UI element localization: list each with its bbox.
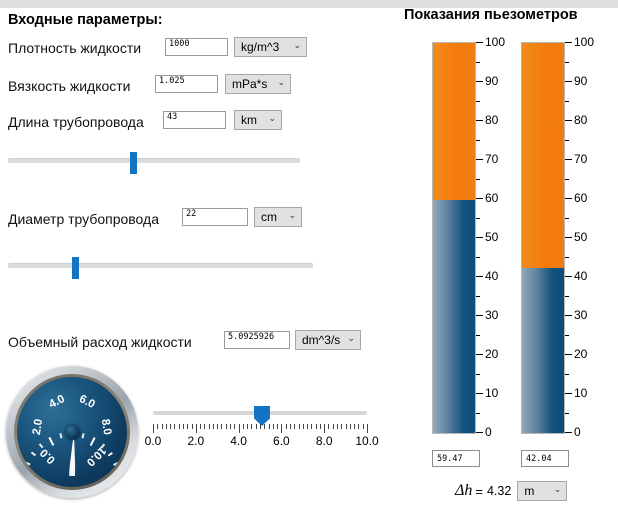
- ruler-tick: [294, 424, 295, 429]
- ruler-tick: [316, 424, 317, 429]
- input-viscosity[interactable]: 1.025: [155, 75, 218, 93]
- scale-tick: [476, 62, 480, 63]
- ruler-tick: [328, 424, 329, 429]
- delta-h-value: 4.32: [487, 484, 511, 498]
- ruler-tick: [200, 424, 201, 429]
- left-panel-title: Входные параметры:: [8, 12, 163, 28]
- ruler-tick: [281, 424, 282, 433]
- unit-select-diameter[interactable]: cm ⌄: [254, 207, 302, 227]
- chevron-down-icon: ⌄: [293, 41, 301, 50]
- delta-h-symbol: Δh: [455, 482, 472, 500]
- scale-tick: [476, 140, 480, 141]
- input-flow-rate-value: 5.0925926: [228, 333, 274, 342]
- scale-tick: [565, 237, 572, 238]
- ruler-tick: [367, 424, 368, 433]
- scale-tick: [476, 81, 483, 82]
- piezometer-2-bar: [521, 42, 565, 434]
- ruler-label: 4.0: [230, 434, 247, 448]
- ruler-tick: [303, 424, 304, 429]
- piezometer-1-readout: 59.47: [432, 450, 480, 467]
- ruler-tick: [264, 424, 265, 429]
- scale-tick: [476, 393, 483, 394]
- unit-select-delta-h[interactable]: m ⌄: [517, 481, 567, 501]
- ruler-tick: [226, 424, 227, 429]
- piezometer-1-empty: [433, 43, 475, 202]
- ruler-tick: [170, 424, 171, 429]
- right-panel-title: Показания пьезометров: [404, 7, 578, 23]
- scale-tick: [476, 276, 483, 277]
- scale-tick: [565, 120, 572, 121]
- scale-label: 20: [485, 347, 498, 361]
- ruler-label: 0.0: [145, 434, 162, 448]
- scale-label: 90: [485, 74, 498, 88]
- ruler-tick: [350, 424, 351, 429]
- chevron-down-icon: ⌄: [554, 485, 562, 494]
- ruler-tick: [196, 424, 197, 433]
- piezometer-2-readout-value: 42.04: [526, 454, 552, 464]
- ruler-tick: [187, 424, 188, 429]
- input-diameter-value: 22: [186, 210, 196, 219]
- unit-select-delta-h-value: m: [524, 484, 534, 498]
- ruler-tick: [260, 424, 261, 429]
- chevron-down-icon: ⌄: [277, 78, 285, 87]
- diameter-slider[interactable]: [8, 257, 313, 279]
- scale-tick: [476, 120, 483, 121]
- scale-tick: [565, 159, 572, 160]
- ruler-tick: [213, 424, 214, 429]
- ruler-label: 6.0: [273, 434, 290, 448]
- scale-tick: [476, 218, 480, 219]
- scale-tick: [565, 179, 569, 180]
- scale-tick: [476, 296, 480, 297]
- unit-select-viscosity[interactable]: mPa*s ⌄: [225, 74, 291, 94]
- scale-tick: [476, 179, 480, 180]
- chevron-down-icon: ⌄: [268, 114, 276, 123]
- ruler-tick: [243, 424, 244, 429]
- ruler-tick: [363, 424, 364, 429]
- ruler-tick: [239, 424, 240, 433]
- ruler-label: 2.0: [187, 434, 204, 448]
- flow-rate-ruler: [153, 424, 367, 434]
- input-density-value: 1000: [169, 40, 189, 49]
- scale-tick: [476, 413, 480, 414]
- piezometer-2-fill: [522, 268, 564, 433]
- ruler-tick: [358, 424, 359, 429]
- scale-tick: [476, 335, 480, 336]
- scale-tick: [565, 315, 572, 316]
- ruler-tick: [277, 424, 278, 429]
- length-slider[interactable]: [8, 152, 300, 174]
- scale-label: 20: [574, 347, 587, 361]
- label-length: Длина трубопровода: [8, 114, 144, 130]
- scale-tick: [565, 81, 572, 82]
- ruler-tick: [307, 424, 308, 429]
- label-viscosity: Вязкость жидкости: [8, 78, 131, 94]
- scale-label: 70: [574, 152, 587, 166]
- ruler-tick: [256, 424, 257, 429]
- gauge-hub: [65, 425, 80, 440]
- ruler-tick: [162, 424, 163, 429]
- scale-label: 10: [574, 386, 587, 400]
- scale-label: 60: [574, 191, 587, 205]
- scale-label: 90: [574, 74, 587, 88]
- input-density[interactable]: 1000: [165, 38, 228, 56]
- ruler-tick: [179, 424, 180, 429]
- label-diameter: Диаметр трубопровода: [8, 211, 159, 227]
- ruler-tick: [269, 424, 270, 429]
- piezometer-2-empty: [522, 43, 564, 270]
- input-length-value: 43: [167, 113, 177, 122]
- scale-tick: [565, 296, 569, 297]
- ruler-tick: [234, 424, 235, 429]
- scale-tick: [565, 140, 569, 141]
- scale-tick: [565, 218, 569, 219]
- unit-select-viscosity-value: mPa*s: [232, 77, 267, 91]
- scale-label: 30: [485, 308, 498, 322]
- input-length[interactable]: 43: [163, 111, 226, 129]
- label-flow-rate: Объемный расход жидкости: [8, 334, 192, 350]
- diameter-slider-thumb[interactable]: [72, 257, 79, 279]
- length-slider-track[interactable]: [8, 158, 300, 163]
- gauge-label: 8.0: [98, 418, 112, 436]
- ruler-tick: [209, 424, 210, 429]
- scale-tick: [565, 101, 569, 102]
- ruler-tick: [247, 424, 248, 429]
- scale-tick: [565, 62, 569, 63]
- unit-select-flow-rate[interactable]: dm^3/s ⌄: [295, 330, 361, 350]
- scale-tick: [565, 335, 569, 336]
- ruler-tick: [341, 424, 342, 429]
- scale-label: 80: [574, 113, 587, 127]
- scale-tick: [565, 257, 569, 258]
- scale-label: 0: [485, 425, 492, 439]
- piezometer-2-scale: 0102030405060708090100: [565, 42, 599, 432]
- scale-label: 40: [485, 269, 498, 283]
- ruler-tick: [174, 424, 175, 429]
- chevron-down-icon: ⌄: [347, 334, 355, 343]
- scale-tick: [476, 101, 480, 102]
- piezometer-1-scale: 0102030405060708090100: [476, 42, 510, 432]
- unit-select-flow-rate-value: dm^3/s: [302, 333, 340, 347]
- ruler-tick: [192, 424, 193, 429]
- scale-tick: [476, 198, 483, 199]
- scale-label: 60: [485, 191, 498, 205]
- scale-label: 30: [574, 308, 587, 322]
- gauge-label: 6.0: [78, 393, 98, 411]
- scale-label: 50: [485, 230, 498, 244]
- ruler-tick: [183, 424, 184, 429]
- ruler-label: 10.0: [355, 434, 378, 448]
- scale-label: 100: [485, 35, 505, 49]
- scale-tick: [476, 257, 480, 258]
- scale-label: 50: [574, 230, 587, 244]
- ruler-tick: [273, 424, 274, 429]
- scale-tick: [476, 354, 483, 355]
- flow-rate-gauge: 0.02.04.06.08.010.0: [6, 366, 138, 498]
- ruler-tick: [286, 424, 287, 429]
- ruler-tick: [153, 424, 154, 433]
- ruler-tick: [320, 424, 321, 429]
- label-density: Плотность жидкости: [8, 40, 141, 56]
- ruler-tick: [221, 424, 222, 429]
- length-slider-thumb[interactable]: [130, 152, 137, 174]
- scale-label: 80: [485, 113, 498, 127]
- scale-label: 100: [574, 35, 594, 49]
- ruler-tick: [230, 424, 231, 429]
- scale-label: 10: [485, 386, 498, 400]
- scale-tick: [476, 237, 483, 238]
- scale-tick: [476, 432, 483, 433]
- scale-tick: [565, 432, 572, 433]
- unit-select-density-value: kg/m^3: [241, 40, 279, 54]
- chevron-down-icon: ⌄: [288, 211, 296, 220]
- ruler-tick: [311, 424, 312, 429]
- ruler-label: 8.0: [316, 434, 333, 448]
- ruler-tick: [354, 424, 355, 429]
- ruler-tick: [204, 424, 205, 429]
- gauge-label: 2.0: [31, 418, 45, 436]
- piezometer-2-readout: 42.04: [521, 450, 569, 467]
- piezometer-1-readout-value: 59.47: [437, 454, 463, 464]
- ruler-tick: [166, 424, 167, 429]
- scale-tick: [565, 393, 572, 394]
- scale-label: 0: [574, 425, 581, 439]
- flow-rate-slider-thumb[interactable]: [254, 406, 270, 426]
- scale-label: 70: [485, 152, 498, 166]
- scale-tick: [565, 354, 572, 355]
- delta-h-row: Δh = 4.32 m ⌄: [455, 481, 561, 501]
- ruler-tick: [333, 424, 334, 429]
- ruler-tick: [337, 424, 338, 429]
- delta-h-equals: =: [475, 484, 483, 499]
- scale-tick: [565, 413, 569, 414]
- input-viscosity-value: 1.025: [159, 77, 185, 86]
- ruler-tick: [290, 424, 291, 429]
- ruler-tick: [324, 424, 325, 433]
- diameter-slider-track[interactable]: [8, 263, 313, 268]
- scale-tick: [476, 42, 483, 43]
- piezometer-1-bar: [432, 42, 476, 434]
- scale-tick: [565, 198, 572, 199]
- scale-label: 40: [574, 269, 587, 283]
- flow-rate-ruler-labels: 0.02.04.06.08.010.0: [153, 434, 367, 450]
- gauge-label: 4.0: [47, 393, 67, 411]
- scale-tick: [565, 276, 572, 277]
- ruler-tick: [251, 424, 252, 429]
- unit-select-length-value: km: [241, 113, 257, 127]
- ruler-tick: [346, 424, 347, 429]
- scale-tick: [476, 374, 480, 375]
- piezometer-1-fill: [433, 200, 475, 433]
- scale-tick: [476, 159, 483, 160]
- flow-rate-slider[interactable]: [153, 404, 367, 426]
- input-flow-rate[interactable]: 5.0925926: [224, 331, 290, 349]
- ruler-tick: [157, 424, 158, 429]
- scale-tick: [476, 315, 483, 316]
- unit-select-density[interactable]: kg/m^3 ⌄: [234, 37, 307, 57]
- unit-select-length[interactable]: km ⌄: [234, 110, 282, 130]
- scale-tick: [565, 42, 572, 43]
- ruler-tick: [217, 424, 218, 429]
- input-diameter[interactable]: 22: [182, 208, 248, 226]
- ruler-tick: [299, 424, 300, 429]
- scale-tick: [565, 374, 569, 375]
- unit-select-diameter-value: cm: [261, 210, 277, 224]
